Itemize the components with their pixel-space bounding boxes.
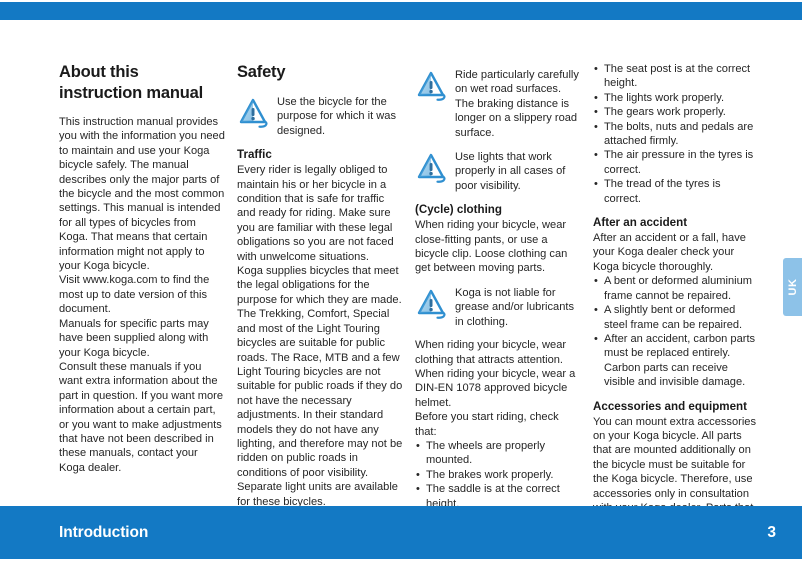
- paragraph: After an accident or a fall, have your K…: [593, 231, 759, 274]
- warning-triangle-icon: [415, 69, 449, 101]
- paragraph: Consult these manuals if you want extra …: [59, 360, 225, 475]
- language-tab-label: UK: [787, 279, 799, 296]
- callout-text: Use the bicycle for the purpose for whic…: [277, 94, 403, 138]
- subheading-accessories-equipment: Accessories and equipment: [593, 399, 759, 414]
- page-content: About this instruction manual This instr…: [59, 62, 759, 507]
- warning-callout: Use lights that work properly in all cas…: [415, 149, 581, 193]
- footer-page-number: 3: [767, 524, 776, 542]
- list-item: The lights work properly.: [593, 91, 759, 105]
- warning-callout: Koga is not liable for grease and/or lub…: [415, 285, 581, 329]
- column-1: About this instruction manual This instr…: [59, 62, 225, 507]
- list-item: The gears work properly.: [593, 105, 759, 119]
- page-title: About this instruction manual: [59, 62, 225, 104]
- column-2: Safety Use the bicycle: [237, 62, 403, 507]
- list-item: A slightly bent or deformed steel frame …: [593, 303, 759, 332]
- language-tab-uk[interactable]: UK: [783, 258, 802, 316]
- warning-callout: Use the bicycle for the purpose for whic…: [237, 94, 403, 138]
- subheading-after-an-accident: After an accident: [593, 215, 759, 230]
- list-item: The air pressure in the tyres is correct…: [593, 148, 759, 177]
- checklist-part-2: The seat post is at the correct height. …: [593, 62, 759, 206]
- paragraph: When riding your bicycle, wear clothing …: [415, 338, 581, 410]
- top-accent-bar: [0, 2, 802, 20]
- callout-text: Ride particularly carefully on wet road …: [455, 67, 581, 140]
- subheading-cycle-clothing: (Cycle) clothing: [415, 202, 581, 217]
- paragraph: Visit www.koga.com to find the most up t…: [59, 273, 225, 316]
- callout-text: Koga is not liable for grease and/or lub…: [455, 285, 581, 329]
- list-item: The wheels are properly mounted.: [415, 439, 581, 468]
- list-item: After an accident, carbon parts must be …: [593, 332, 759, 390]
- footer-chapter-title: Introduction: [59, 524, 148, 542]
- paragraph: When riding your bicycle, wear close-fit…: [415, 218, 581, 276]
- footer-bar: Introduction 3: [0, 506, 802, 559]
- paragraph: This instruction manual provides you wit…: [59, 115, 225, 273]
- paragraph: Every rider is legally obliged to mainta…: [237, 163, 403, 264]
- list-item: A bent or deformed aluminium frame canno…: [593, 274, 759, 303]
- list-item: The bolts, nuts and pedals are attached …: [593, 120, 759, 149]
- accident-list: A bent or deformed aluminium frame canno…: [593, 274, 759, 389]
- warning-triangle-icon: [415, 287, 449, 319]
- list-item: The tread of the tyres is correct.: [593, 177, 759, 206]
- warning-triangle-icon: [415, 151, 449, 183]
- paragraph: Before you start riding, check that:: [415, 410, 581, 439]
- warning-triangle-icon: [237, 96, 271, 128]
- warning-callout: Ride particularly carefully on wet road …: [415, 67, 581, 140]
- column-3: Ride particularly carefully on wet road …: [415, 62, 581, 507]
- subheading-traffic: Traffic: [237, 147, 403, 162]
- list-item: The brakes work properly.: [415, 468, 581, 482]
- section-title-safety: Safety: [237, 62, 403, 83]
- callout-text: Use lights that work properly in all cas…: [455, 149, 581, 193]
- paragraph: Koga supplies bicycles that meet the leg…: [237, 264, 403, 509]
- paragraph: Manuals for specific parts may have been…: [59, 317, 225, 360]
- list-item: The seat post is at the correct height.: [593, 62, 759, 91]
- column-4: The seat post is at the correct height. …: [593, 62, 759, 507]
